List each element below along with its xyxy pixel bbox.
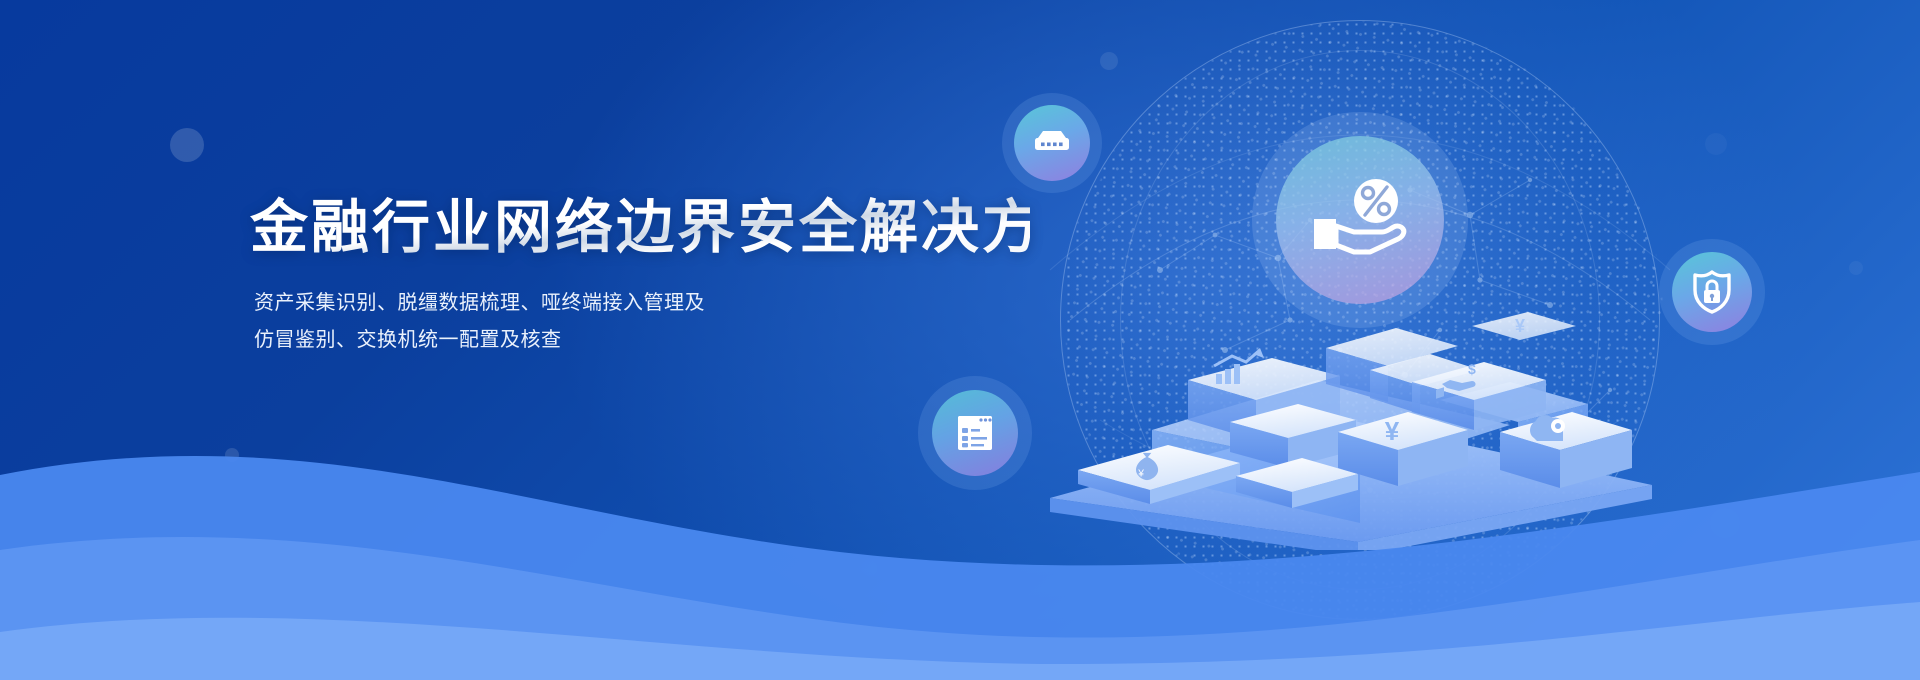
svg-text:¥: ¥ <box>1515 316 1525 336</box>
network-switch-badge <box>1014 105 1090 181</box>
banner-hero: ¥ <box>0 0 1920 680</box>
hero-subtitle: 资产采集识别、脱缰数据梳理、哑终端接入管理及 仿冒鉴别、交换机统一配置及核查 <box>254 285 1030 359</box>
tile-yuan-small: ¥ <box>1472 312 1576 340</box>
hand-percent-coin-icon <box>1304 174 1416 266</box>
document-list-icon <box>953 411 997 455</box>
bokeh-circle <box>1705 133 1727 155</box>
shield-lock-icon <box>1691 269 1733 315</box>
hero-subtitle-line-1: 资产采集识别、脱缰数据梳理、哑终端接入管理及 <box>254 285 1030 322</box>
hand-percent-badge <box>1276 136 1444 304</box>
svg-text:$: $ <box>1468 361 1476 377</box>
bokeh-circle <box>1100 52 1118 70</box>
bokeh-circle <box>1849 261 1863 275</box>
shield-lock-badge <box>1672 252 1752 332</box>
network-switch-icon <box>1030 128 1074 158</box>
hero-copy: 金融行业网络边界安全解决方案 资产采集识别、脱缰数据梳理、哑终端接入管理及 仿冒… <box>250 196 1030 359</box>
hero-subtitle-line-2: 仿冒鉴别、交换机统一配置及核查 <box>254 322 1030 359</box>
bokeh-circle <box>170 128 204 162</box>
page-title: 金融行业网络边界安全解决方案 <box>250 196 1030 261</box>
